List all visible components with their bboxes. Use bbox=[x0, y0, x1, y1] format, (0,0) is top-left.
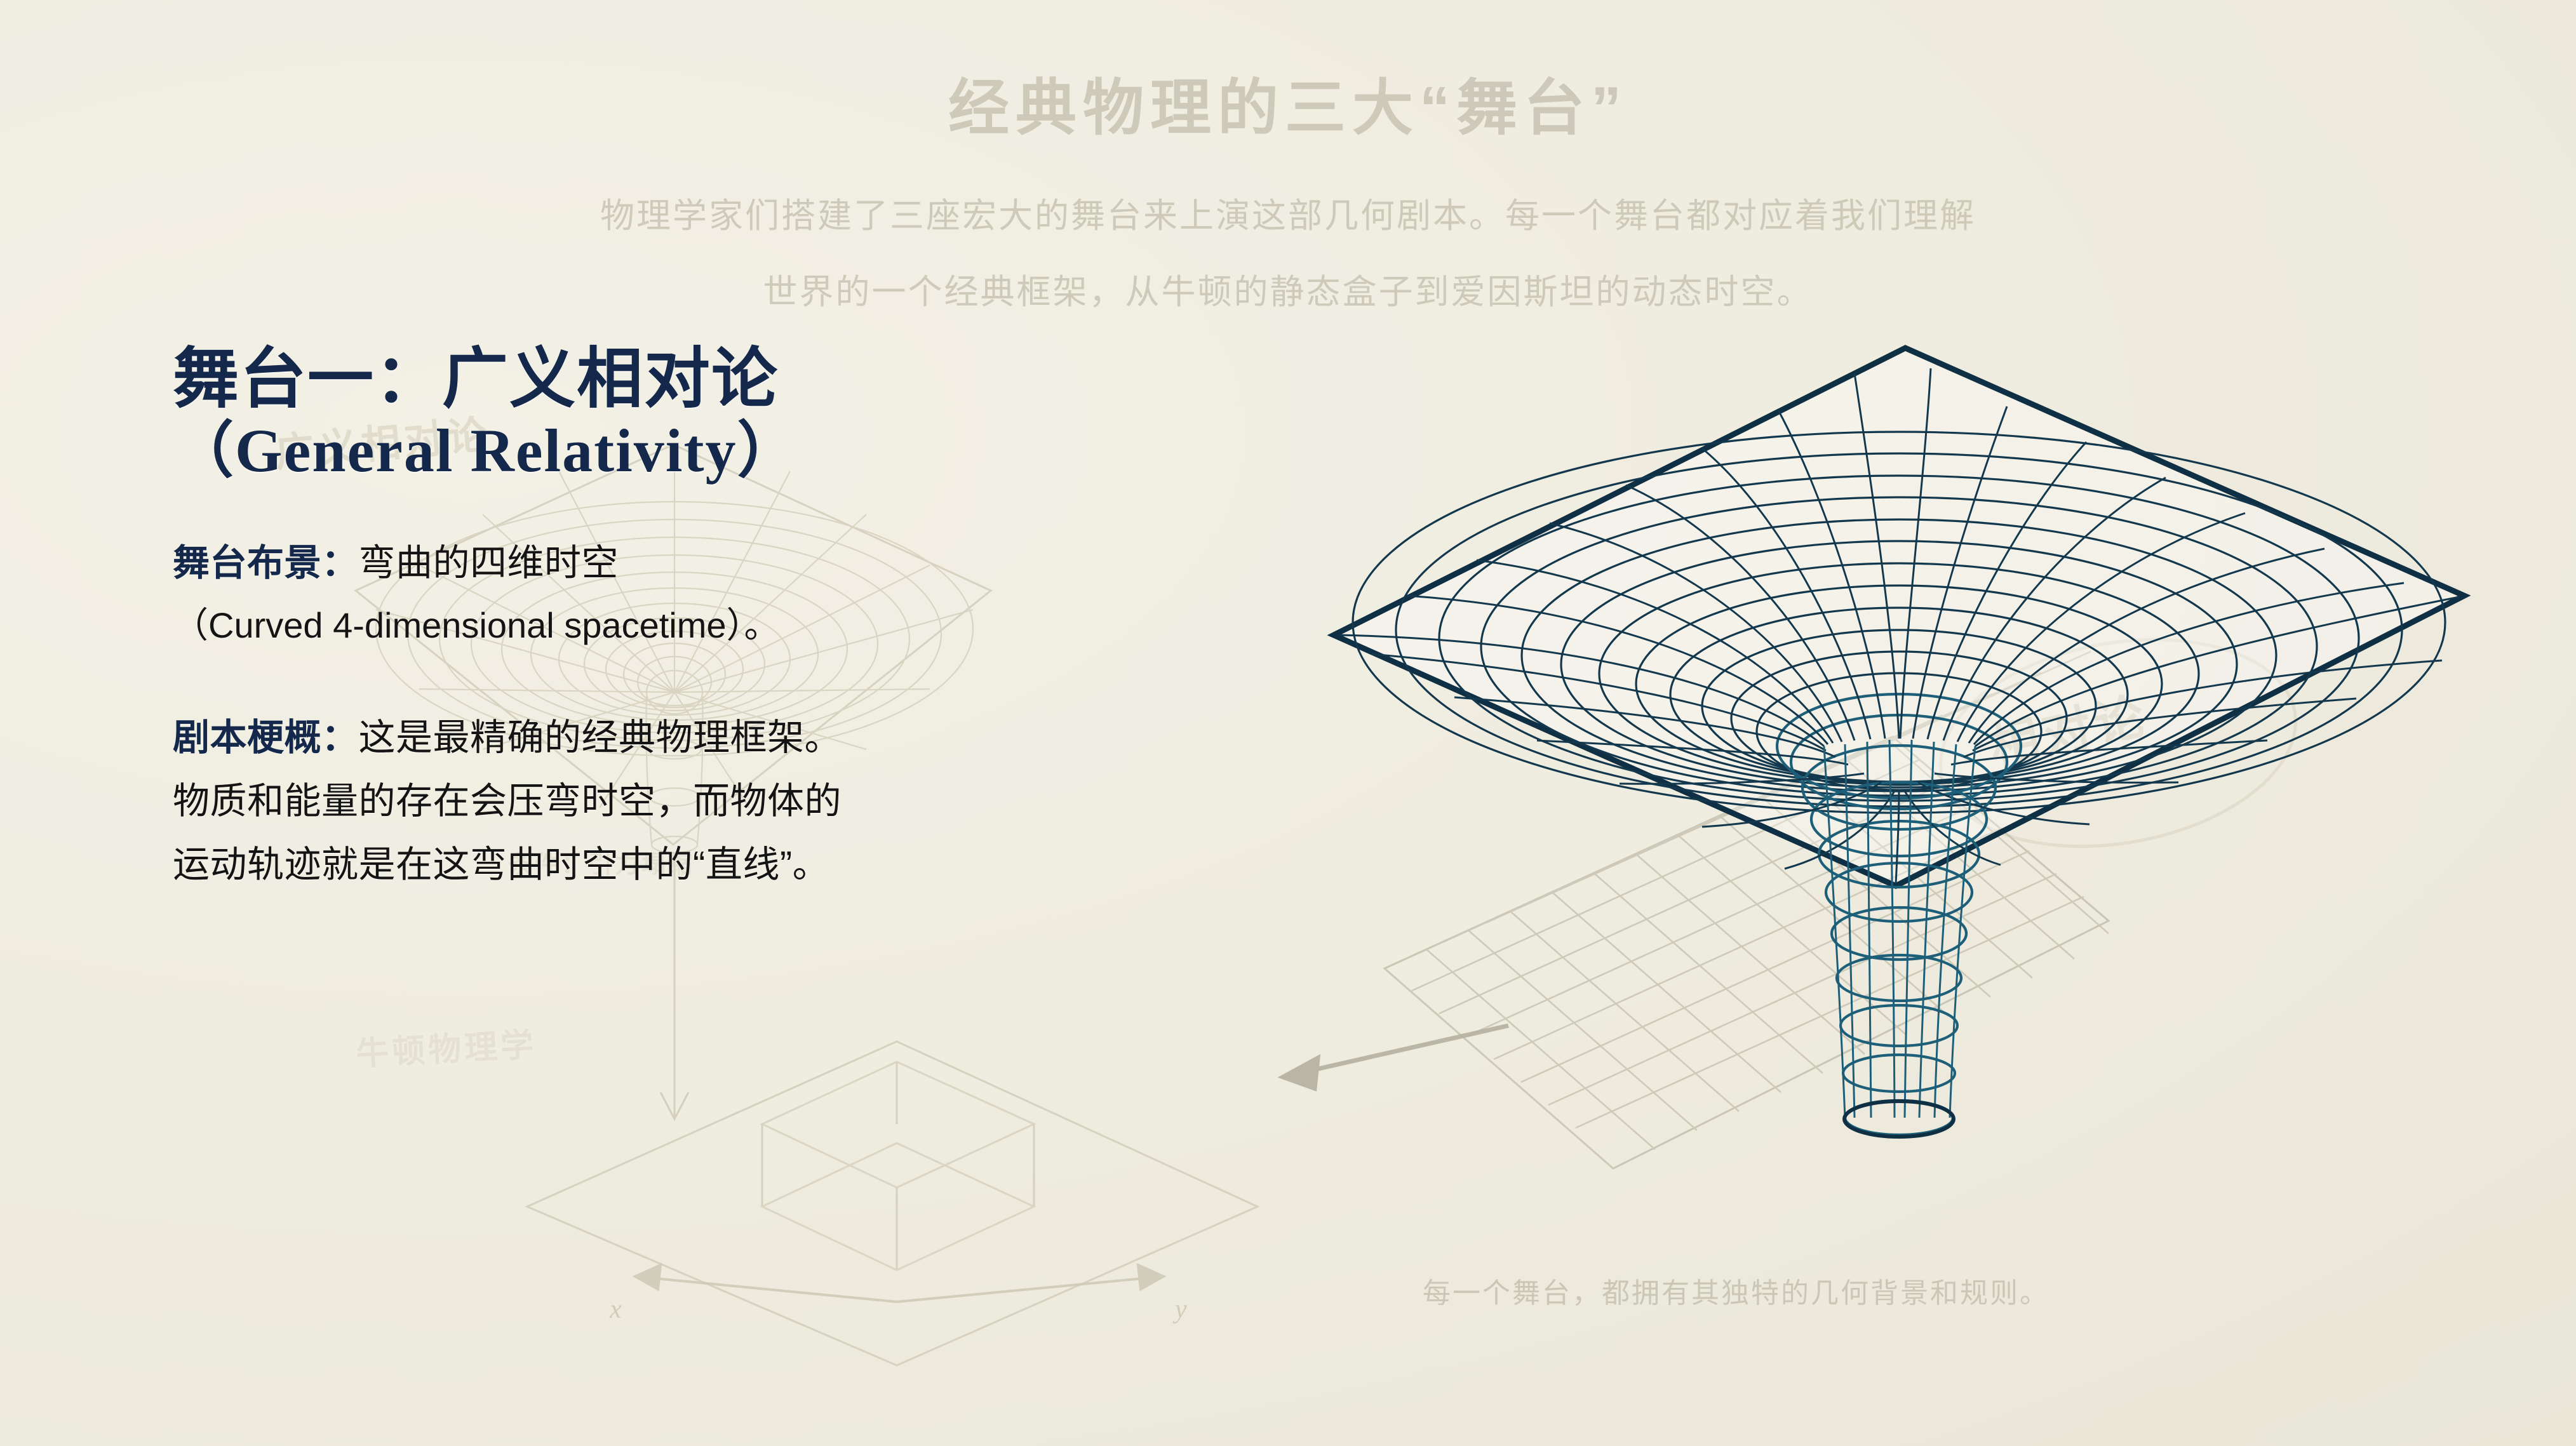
axis-label-x: x bbox=[609, 1295, 622, 1324]
content-column: 舞台一：广义相对论 （General Relativity） 舞台布景：弯曲的四… bbox=[173, 343, 1291, 903]
stage-body: 舞台布景：弯曲的四维时空 （Curved 4-dimensional space… bbox=[173, 537, 1291, 892]
stage-title-cn: 舞台一：广义相对论 bbox=[173, 343, 779, 416]
synopsis-text-1: 这是最精确的经典物理框架。 bbox=[359, 717, 842, 758]
page-title-ghost: 经典物理的三大“舞台” bbox=[0, 58, 2576, 147]
ghost-axes bbox=[635, 1265, 1164, 1302]
synopsis-line-1: 剧本梗概：这是最精确的经典物理框架。 bbox=[173, 712, 1291, 764]
synopsis-line-2: 物质和能量的存在会压弯时空，而物体的 bbox=[173, 775, 1291, 827]
stage-setting-line: 舞台布景：弯曲的四维时空 bbox=[173, 537, 1291, 589]
setting-english: （Curved 4-dimensional spacetime）。 bbox=[173, 601, 1291, 650]
slide-root: 经典物理的三大“舞台” 物理学家们搭建了三座宏大的舞台来上演这部几何剧本。每一个… bbox=[0, 0, 2576, 1446]
watermark-ring bbox=[1922, 612, 2314, 874]
setting-label: 舞台布景： bbox=[173, 542, 359, 584]
synopsis-label: 剧本梗概： bbox=[173, 717, 359, 758]
stage-title: 舞台一：广义相对论 （General Relativity） bbox=[173, 343, 1291, 485]
stage-title-en: （General Relativity） bbox=[173, 417, 1291, 485]
watermark-box-note: 牛顿物理学 bbox=[354, 1018, 538, 1075]
setting-value: 弯曲的四维时空 bbox=[359, 542, 619, 584]
pointer-arrow bbox=[1283, 1026, 1508, 1088]
gravity-well-mesh bbox=[1334, 348, 2464, 1137]
subtitle-line-2: 世界的一个经典框架，从牛顿的静态盒子到爱因斯坦的动态时空。 bbox=[0, 267, 2576, 318]
footer-caption: 每一个舞台，都拥有其独特的几何背景和规则。 bbox=[1423, 1270, 2049, 1311]
subtitle-line-1: 物理学家们搭建了三座宏大的舞台来上演这部几何剧本。每一个舞台都对应着我们理解 bbox=[0, 191, 2576, 242]
axis-label-y: y bbox=[1172, 1295, 1187, 1324]
synopsis-line-3: 运动轨迹就是在这弯曲时空中的“直线”。 bbox=[173, 839, 1291, 891]
ghost-base-plane bbox=[527, 1041, 1258, 1365]
